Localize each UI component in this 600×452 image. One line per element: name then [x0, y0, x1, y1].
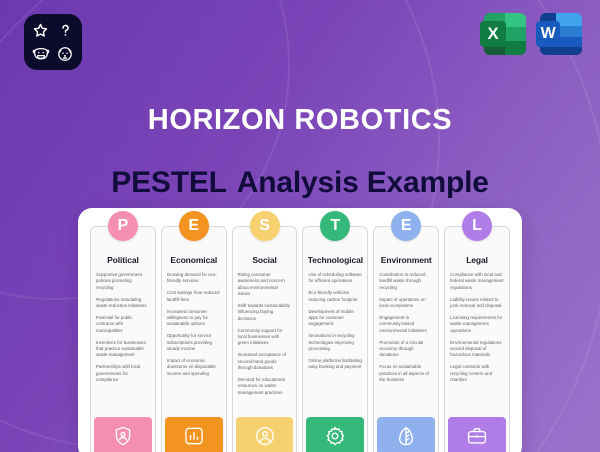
point-item: Development of mobile apps for customer … — [308, 309, 362, 328]
pestel-column-economical[interactable]: EEconomicalGrowing demand for eco-friend… — [161, 226, 227, 452]
point-item: Supportive government policies promoting… — [96, 272, 150, 291]
point-item: Demand for educational resources on wast… — [238, 377, 292, 396]
office-app-icons: X W — [484, 13, 582, 55]
column-letter-badge: T — [320, 211, 350, 241]
point-item: Online platforms facilitating easy booki… — [308, 358, 362, 371]
leaf-icon — [377, 417, 435, 452]
shield-person-icon — [94, 417, 152, 452]
point-item: Contribution to reduced landfill waste t… — [379, 272, 433, 291]
star-icon — [30, 20, 52, 41]
point-item: Shift towards sustainability influencing… — [238, 303, 292, 322]
point-item: Compliance with local and federal waste … — [450, 272, 504, 291]
pestel-column-political[interactable]: PPoliticalSupportive government policies… — [90, 226, 156, 452]
pestel-column-environment[interactable]: EEnvironmentContribution to reduced land… — [373, 226, 439, 452]
point-item: Use of scheduling software for efficient… — [308, 272, 362, 285]
point-item: Potential for public contracts with muni… — [96, 315, 150, 334]
column-points: Supportive government policies promoting… — [91, 272, 155, 413]
point-item: Increased consumer willingness to pay fo… — [167, 309, 221, 328]
point-item: Focus on sustainable practices in all as… — [379, 364, 433, 383]
subtitle-rest: Analysis Example — [237, 166, 489, 199]
pestel-card: PPoliticalSupportive government policies… — [78, 208, 522, 452]
point-item: Community support for local businesses w… — [238, 328, 292, 347]
column-title: Economical — [162, 255, 226, 272]
pestel-column-social[interactable]: SSocialRising consumer awareness and con… — [232, 226, 298, 452]
point-item: Opportunity for service subscriptions pr… — [167, 333, 221, 352]
point-item: Liability issues related to junk removal… — [450, 297, 504, 310]
column-letter-badge: E — [179, 211, 209, 241]
column-title: Political — [91, 255, 155, 272]
word-letter: W — [536, 21, 560, 47]
column-points: Growing demand for eco-friendly services… — [162, 272, 226, 413]
point-item: Innovations in recycling technologies im… — [308, 333, 362, 352]
column-letter-badge: P — [108, 211, 138, 241]
pestel-columns: PPoliticalSupportive government policies… — [90, 226, 510, 452]
excel-icon[interactable]: X — [484, 13, 526, 55]
word-icon[interactable]: W — [540, 13, 582, 55]
person-circle-icon — [236, 417, 294, 452]
column-title: Environment — [374, 255, 438, 272]
point-item: Promotion of a circular economy through … — [379, 340, 433, 359]
excel-letter: X — [480, 21, 506, 47]
gear-icon — [306, 417, 364, 452]
page-subtitle: PESTELAnalysis Example — [0, 166, 600, 200]
question-mark-icon — [55, 20, 77, 41]
column-points: Contribution to reduced landfill waste t… — [374, 272, 438, 413]
point-item: Legal contracts with recycling centers a… — [450, 364, 504, 383]
point-item: Licensing requirements for waste managem… — [450, 315, 504, 334]
point-item: Eco-friendly vehicles reducing carbon fo… — [308, 290, 362, 303]
point-item: Engagement in community-based environmen… — [379, 315, 433, 334]
column-title: Social — [233, 255, 297, 272]
briefcase-icon — [448, 417, 506, 452]
point-item: Increased acceptance of second-hand good… — [238, 352, 292, 371]
column-letter-badge: E — [391, 211, 421, 241]
pestel-column-technological[interactable]: TTechnologicalUse of scheduling software… — [302, 226, 368, 452]
column-letter-badge: L — [462, 211, 492, 241]
dog-face-icon — [55, 44, 77, 65]
point-item: Impact of economic downturns on disposab… — [167, 358, 221, 377]
pestel-column-legal[interactable]: LLegalCompliance with local and federal … — [444, 226, 510, 452]
column-title: Technological — [303, 255, 367, 272]
point-item: Impact of operations on local ecosystems — [379, 297, 433, 310]
point-item: Environmental regulations around disposa… — [450, 340, 504, 359]
point-item: Rising consumer awareness and concern ab… — [238, 272, 292, 298]
point-item: Incentives for businesses that practice … — [96, 340, 150, 359]
point-item: Cost savings from reduced landfill fees — [167, 290, 221, 303]
column-points: Use of scheduling software for efficient… — [303, 272, 367, 413]
column-letter-badge: S — [250, 211, 280, 241]
point-item: Partnerships with local governments for … — [96, 364, 150, 383]
cow-face-icon — [30, 44, 52, 65]
subtitle-bold: PESTEL — [111, 166, 227, 199]
column-points: Compliance with local and federal waste … — [445, 272, 509, 413]
app-logo[interactable] — [24, 14, 82, 70]
point-item: Regulations mandating waste reduction in… — [96, 297, 150, 310]
column-points: Rising consumer awareness and concern ab… — [233, 272, 297, 413]
bar-chart-icon — [165, 417, 223, 452]
page-title: HORIZON ROBOTICS — [0, 104, 600, 137]
point-item: Growing demand for eco-friendly services — [167, 272, 221, 285]
column-title: Legal — [445, 255, 509, 272]
slide-canvas: X W HORIZON ROBOTICS PESTELAnalysis Exam… — [0, 0, 600, 452]
